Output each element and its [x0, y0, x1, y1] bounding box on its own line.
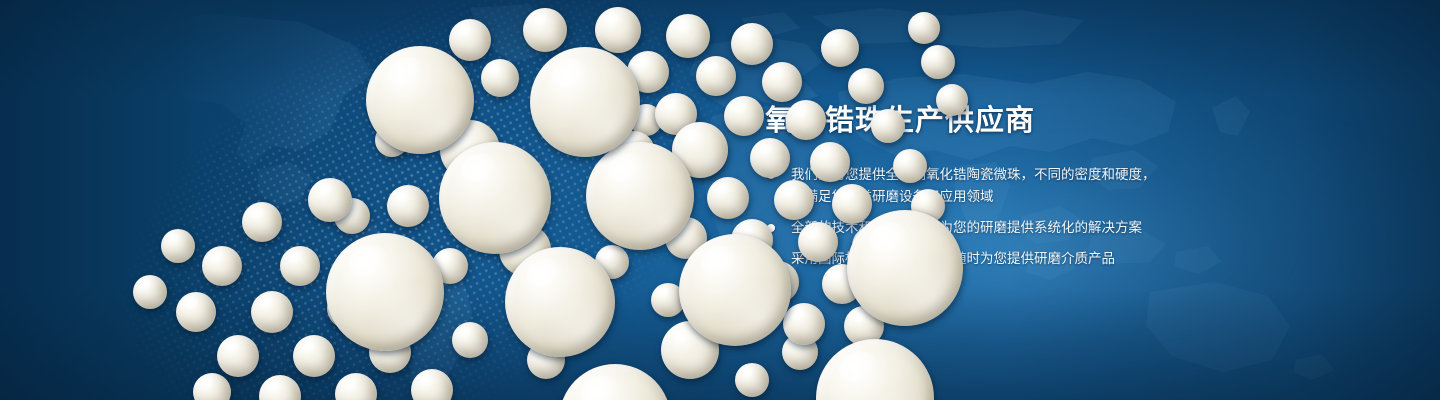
bead: [871, 109, 905, 143]
bead: [176, 292, 216, 332]
bead: [595, 7, 641, 53]
bead: [750, 138, 790, 178]
bead: [707, 177, 749, 219]
bead: [908, 12, 940, 44]
bead: [783, 303, 825, 345]
bead: [774, 180, 814, 220]
bead: [696, 56, 736, 96]
bead: [481, 59, 519, 97]
bead: [202, 246, 242, 286]
bead: [530, 47, 640, 157]
bead: [666, 14, 710, 58]
bead: [848, 68, 884, 104]
bead: [731, 23, 773, 65]
bead: [832, 184, 872, 224]
bead: [308, 178, 352, 222]
page-title: 氧化锆珠生产供应商: [765, 104, 1285, 138]
bead: [816, 339, 934, 400]
bead: [326, 233, 444, 351]
bead: [921, 45, 955, 79]
bead: [133, 275, 167, 309]
bead: [193, 373, 231, 400]
bead: [439, 142, 551, 254]
bead: [335, 373, 377, 400]
bead: [735, 363, 769, 397]
bead: [586, 142, 694, 250]
bead: [411, 369, 453, 400]
bead: [251, 291, 293, 333]
bead: [893, 149, 927, 183]
bead: [217, 335, 259, 377]
bead: [161, 229, 195, 263]
hero-banner: 氧化锆珠生产供应商 我们能为您提供全系列氧化锆陶瓷微珠，不同的密度和硬度， 能满…: [0, 0, 1440, 400]
bead: [505, 247, 615, 357]
bead: [366, 46, 474, 154]
bead: [523, 8, 567, 52]
bead: [449, 19, 491, 61]
bead: [559, 364, 671, 400]
bead: [786, 100, 826, 140]
bead: [936, 84, 968, 116]
bead: [847, 210, 963, 326]
bead: [762, 62, 802, 102]
bead: [724, 96, 764, 136]
bead: [293, 335, 335, 377]
bead: [821, 29, 859, 67]
bead: [798, 222, 838, 262]
bead: [452, 322, 488, 358]
bead: [280, 246, 320, 286]
bead: [810, 142, 850, 182]
bead: [242, 202, 282, 242]
bead: [259, 375, 301, 400]
bead: [387, 185, 429, 227]
bead: [679, 234, 791, 346]
